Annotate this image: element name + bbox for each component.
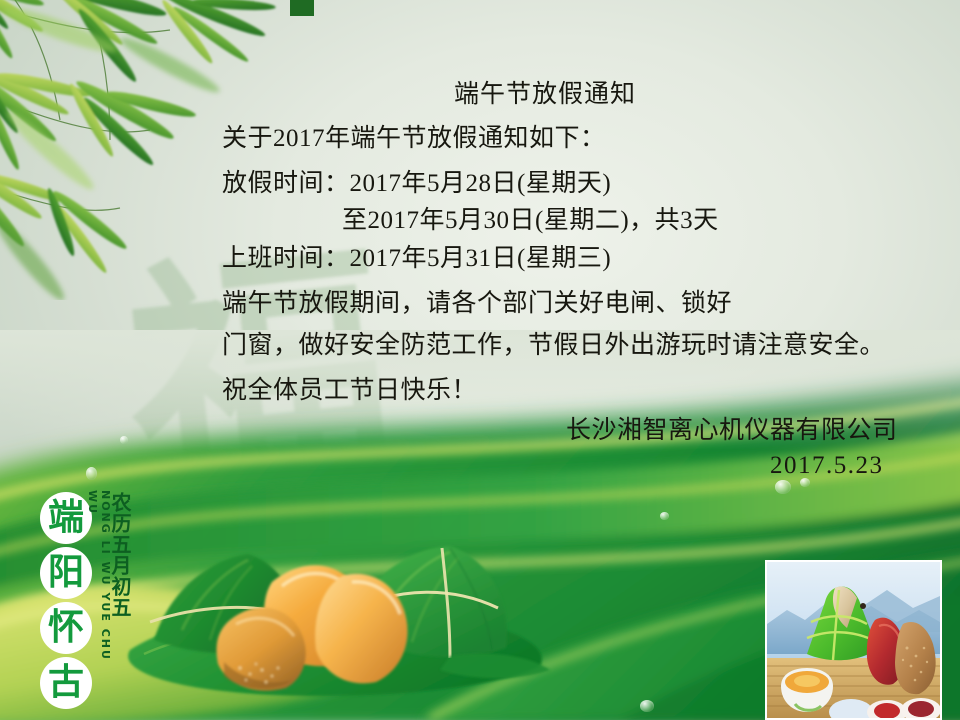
page-title: 端午节放假通知 (0, 74, 960, 110)
slide-canvas: 福 (0, 0, 960, 720)
notice-line: 端午节放假期间，请各个部门关好电闸、锁好 (222, 283, 732, 319)
signature-company: 长沙湘智离心机仪器有限公司 (566, 410, 898, 446)
notice-line: 门窗，做好安全防范工作，节假日外出游玩时请注意安全。 (222, 325, 885, 361)
vertical-subtitle-pinyin: NONG LI WU YUE CHU WU (86, 490, 112, 690)
water-droplet (86, 467, 97, 480)
water-droplet (640, 700, 654, 712)
vertical-title-char: 端 (40, 492, 92, 544)
water-droplet (660, 512, 669, 520)
signature-date: 2017.5.23 (770, 452, 884, 480)
vertical-title-block: 端 阳 怀 古 农历五月初五 NONG LI WU YUE CHU WU (34, 484, 144, 716)
zongzi-rice-dumplings-illustration (120, 490, 560, 720)
notice-line: 放假时间：2017年5月28日(星期天) (222, 163, 611, 199)
vertical-title-char: 怀 (40, 602, 92, 654)
top-edge-green-block (290, 0, 314, 16)
zongzi-photo-inset (765, 560, 942, 720)
inset-photo-content (767, 562, 940, 718)
notice-line: 上班时间：2017年5月31日(星期三) (222, 238, 611, 274)
notice-line: 祝全体员工节日快乐！ (222, 370, 477, 406)
water-droplet (775, 480, 791, 494)
vertical-title-char: 古 (40, 657, 92, 709)
notice-line: 至2017年5月30日(星期二)，共3天 (342, 200, 719, 236)
water-droplet (120, 436, 128, 444)
notice-line: 关于2017年端午节放假通知如下： (222, 118, 606, 154)
vertical-title-char: 阳 (40, 547, 92, 599)
vertical-title-circles: 端 阳 怀 古 (40, 492, 92, 712)
